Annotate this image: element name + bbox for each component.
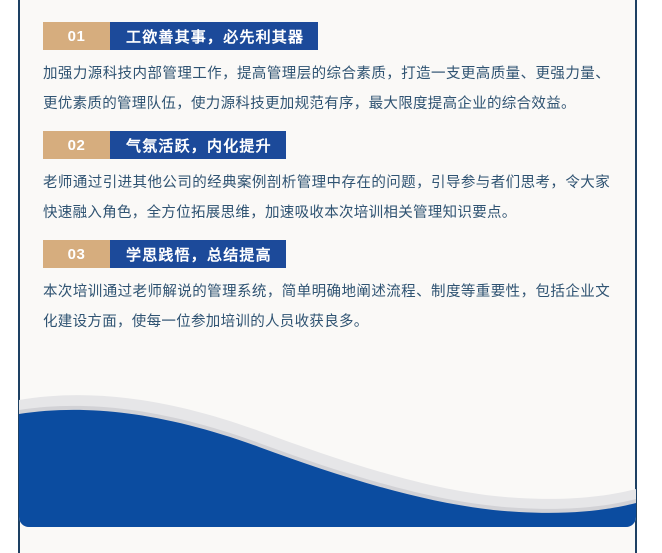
section-03-number-badge: 03	[43, 240, 110, 268]
section-01-body: 加强力源科技内部管理工作，提高管理层的综合素质，打造一支更高质量、更强力量、更优…	[43, 59, 610, 119]
section-02-title: 气氛活跃，内化提升	[110, 131, 286, 159]
section-02-heading: 02 气氛活跃，内化提升	[43, 131, 610, 159]
section-03: 03 学思践悟，总结提高 本次培训通过老师解说的管理系统，简单明确地阐述流程、制…	[43, 240, 610, 337]
content-area: 01 工欲善其事，必先利其器 加强力源科技内部管理工作，提高管理层的综合素质，打…	[19, 0, 636, 395]
section-01-title: 工欲善其事，必先利其器	[110, 22, 318, 50]
page-root: 01 工欲善其事，必先利其器 加强力源科技内部管理工作，提高管理层的综合素质，打…	[0, 0, 662, 553]
section-02-number-badge: 02	[43, 131, 110, 159]
section-02: 02 气氛活跃，内化提升 老师通过引进其他公司的经典案例剖析管理中存在的问题，引…	[43, 131, 610, 228]
section-03-title: 学思践悟，总结提高	[110, 240, 286, 268]
section-02-body: 老师通过引进其他公司的经典案例剖析管理中存在的问题，引导参与者们思考，令大家快速…	[43, 168, 610, 228]
section-01: 01 工欲善其事，必先利其器 加强力源科技内部管理工作，提高管理层的综合素质，打…	[43, 22, 610, 119]
section-01-number-badge: 01	[43, 22, 110, 50]
bottom-wave-decoration	[19, 386, 636, 531]
wave-svg	[19, 386, 636, 531]
section-03-body: 本次培训通过老师解说的管理系统，简单明确地阐述流程、制度等重要性，包括企业文化建…	[43, 277, 610, 337]
section-03-heading: 03 学思践悟，总结提高	[43, 240, 610, 268]
section-01-heading: 01 工欲善其事，必先利其器	[43, 22, 610, 50]
